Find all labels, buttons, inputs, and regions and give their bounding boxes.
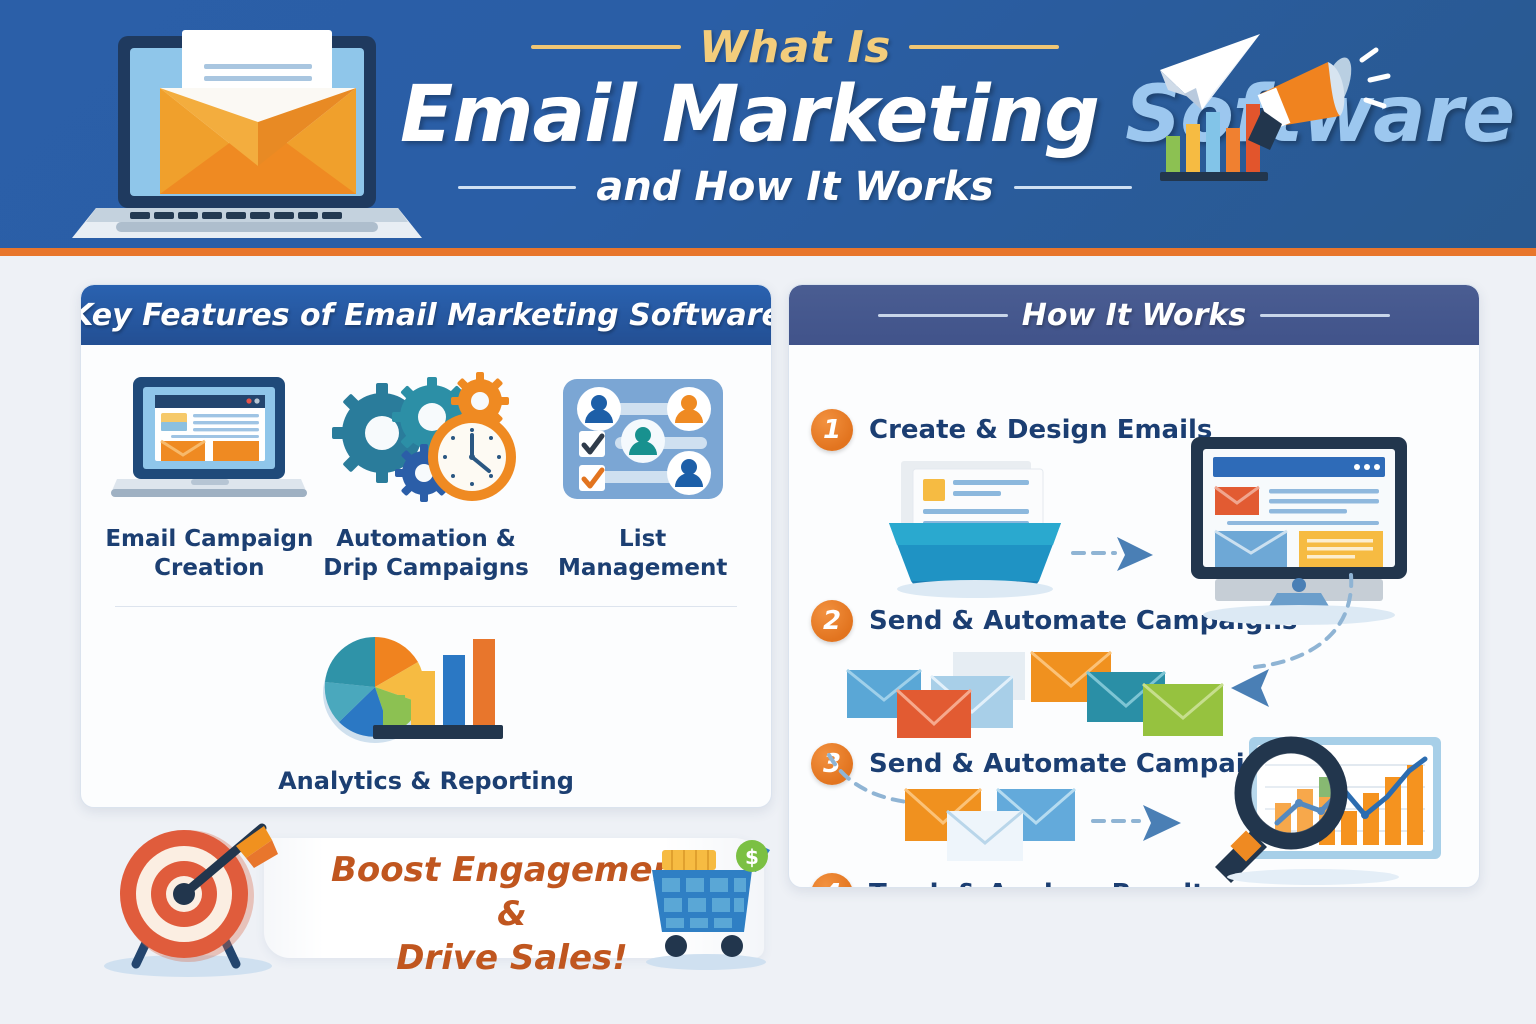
feature-label-line2: Drip Campaigns xyxy=(323,554,529,583)
header-title-block: What Is Email Marketing Software and How… xyxy=(400,16,1190,232)
feature-list-management[interactable]: List Management xyxy=(534,371,751,584)
pie-and-bar-chart-icon xyxy=(311,625,541,753)
feature-automation-drip-campaigns[interactable]: Automation & Drip Campaigns xyxy=(318,371,535,584)
svg-text:$: $ xyxy=(745,845,759,869)
feature-analytics-reporting[interactable]: Analytics & Reporting xyxy=(81,607,771,795)
feature-label-line1: Email Campaign xyxy=(105,525,313,554)
card-title-rule-left xyxy=(878,314,1008,317)
step-number-badge: 2 xyxy=(811,600,853,642)
shopping-cart-dollar-icon: $ xyxy=(636,840,776,970)
how-it-works-title: How It Works xyxy=(1008,298,1261,333)
feature-label: List Management xyxy=(558,525,727,584)
step-1[interactable]: 1 Create & Design Emails xyxy=(811,409,1212,451)
feature-label-line2: Management xyxy=(558,554,727,583)
paper-plane-icon xyxy=(1160,34,1260,110)
step-number-badge: 1 xyxy=(811,409,853,451)
analytics-label: Analytics & Reporting xyxy=(278,767,574,795)
subtitle-rule-right xyxy=(1014,186,1132,189)
header-right-art xyxy=(1150,24,1450,234)
step-label: Track & Analyze Results xyxy=(869,879,1220,888)
bottom-banner: Boost Engagement & Drive Sales! xyxy=(96,826,780,976)
key-features-title: Key Features of Email Marketing Software xyxy=(80,298,772,333)
contact-list-checkboxes-icon xyxy=(555,371,731,503)
feature-label-line1: List xyxy=(558,525,727,554)
target-with-arrow-icon xyxy=(96,826,286,976)
eyebrow-rule-left xyxy=(531,45,681,49)
step-label: Create & Design Emails xyxy=(869,415,1212,445)
title-eyebrow: What Is xyxy=(699,22,891,73)
megaphone-icon xyxy=(1248,50,1388,150)
feature-label-line2: Creation xyxy=(105,554,313,583)
feature-email-campaign-creation[interactable]: Email Campaign Creation xyxy=(101,371,318,584)
left-arrow-icon xyxy=(1229,665,1289,711)
feature-label: Automation & Drip Campaigns xyxy=(323,525,529,584)
eyebrow-rule-right xyxy=(909,45,1059,49)
laptop-envelope-at-icon: @ xyxy=(78,26,448,246)
gears-clock-icon xyxy=(328,371,524,503)
magnifier-analytics-icon xyxy=(1193,731,1449,883)
page-subtitle: and How It Works xyxy=(596,164,993,210)
card-title-rule-right xyxy=(1260,314,1390,317)
step-number-badge: 4 xyxy=(811,873,853,888)
page-title: Email Marketing Software xyxy=(400,76,1190,154)
feature-label: Email Campaign Creation xyxy=(105,525,313,584)
header-accent-stripe xyxy=(0,248,1536,256)
key-features-card-header: Key Features of Email Marketing Software xyxy=(81,285,771,345)
features-row: Email Campaign Creation xyxy=(81,345,771,584)
steps-list: 1 Create & Design Emails 2 Send & Automa… xyxy=(789,345,1479,888)
laptop-email-template-icon xyxy=(111,371,307,503)
bar-chart-icon xyxy=(1160,104,1268,181)
key-features-card: Key Features of Email Marketing Software xyxy=(80,284,772,808)
how-it-works-card: How It Works 1 Create & Design Emails 2 … xyxy=(788,284,1480,888)
envelopes-to-report-icon xyxy=(901,785,1221,877)
subtitle-rule-left xyxy=(458,186,576,189)
how-it-works-card-header: How It Works xyxy=(789,285,1479,345)
feature-label-line1: Automation & xyxy=(323,525,529,554)
header-band: @ What Is Email Marketing Software and H… xyxy=(0,0,1536,248)
title-main-part1: Email Marketing xyxy=(400,70,1125,160)
flying-envelopes-icon xyxy=(843,650,1223,754)
